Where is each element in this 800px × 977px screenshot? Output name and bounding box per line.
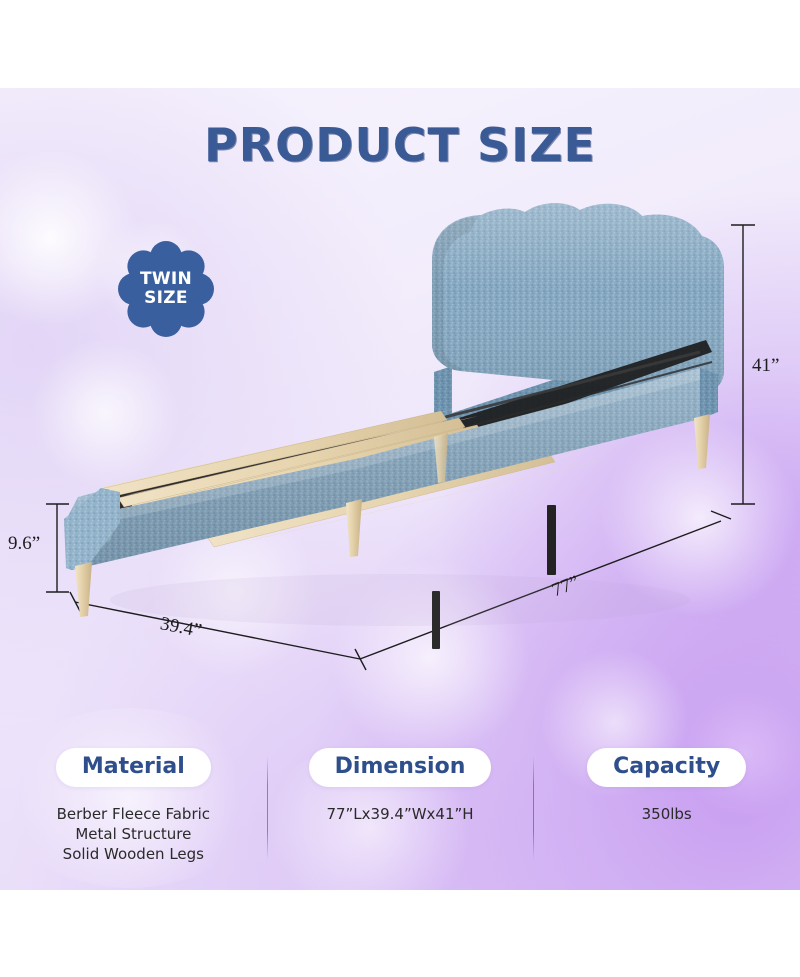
leg-front-right (346, 499, 362, 557)
spec-card-capacity: Capacity 350lbs (533, 748, 800, 878)
spec-label-material: Material (56, 748, 211, 787)
headboard (432, 203, 724, 394)
bed-end-cap-right (700, 368, 718, 419)
spec-label-dimension: Dimension (309, 748, 492, 787)
bed-illustration (0, 0, 800, 700)
spec-card-material: Material Berber Fleece Fabric Metal Stru… (0, 748, 267, 878)
material-line-2: Metal Structure (57, 824, 210, 844)
spec-value-dimension: 77”Lx39.4”Wx41”H (326, 804, 473, 824)
capacity-line-1: 350lbs (642, 804, 692, 824)
spec-cards: Material Berber Fleece Fabric Metal Stru… (0, 748, 800, 878)
leg-back-right (694, 414, 710, 469)
spec-label-capacity: Capacity (587, 748, 746, 787)
dimension-label-height: 41” (752, 355, 779, 377)
bed-rail-near (66, 368, 718, 570)
spec-card-dimension: Dimension 77”Lx39.4”Wx41”H (267, 748, 534, 878)
dimension-line-1: 77”Lx39.4”Wx41”H (326, 804, 473, 824)
leg-front-left (75, 562, 92, 617)
bed-shadow (110, 574, 690, 626)
spec-value-material: Berber Fleece Fabric Metal Structure Sol… (57, 804, 210, 864)
center-support-post (547, 505, 556, 575)
material-line-3: Solid Wooden Legs (57, 844, 210, 864)
dimension-label-clearance: 9.6” (8, 533, 40, 555)
center-support-post-front (432, 591, 440, 649)
product-size-infographic: PRODUCT SIZE TWIN SIZE (0, 0, 800, 977)
spec-value-capacity: 350lbs (642, 804, 692, 824)
material-line-1: Berber Fleece Fabric (57, 804, 210, 824)
